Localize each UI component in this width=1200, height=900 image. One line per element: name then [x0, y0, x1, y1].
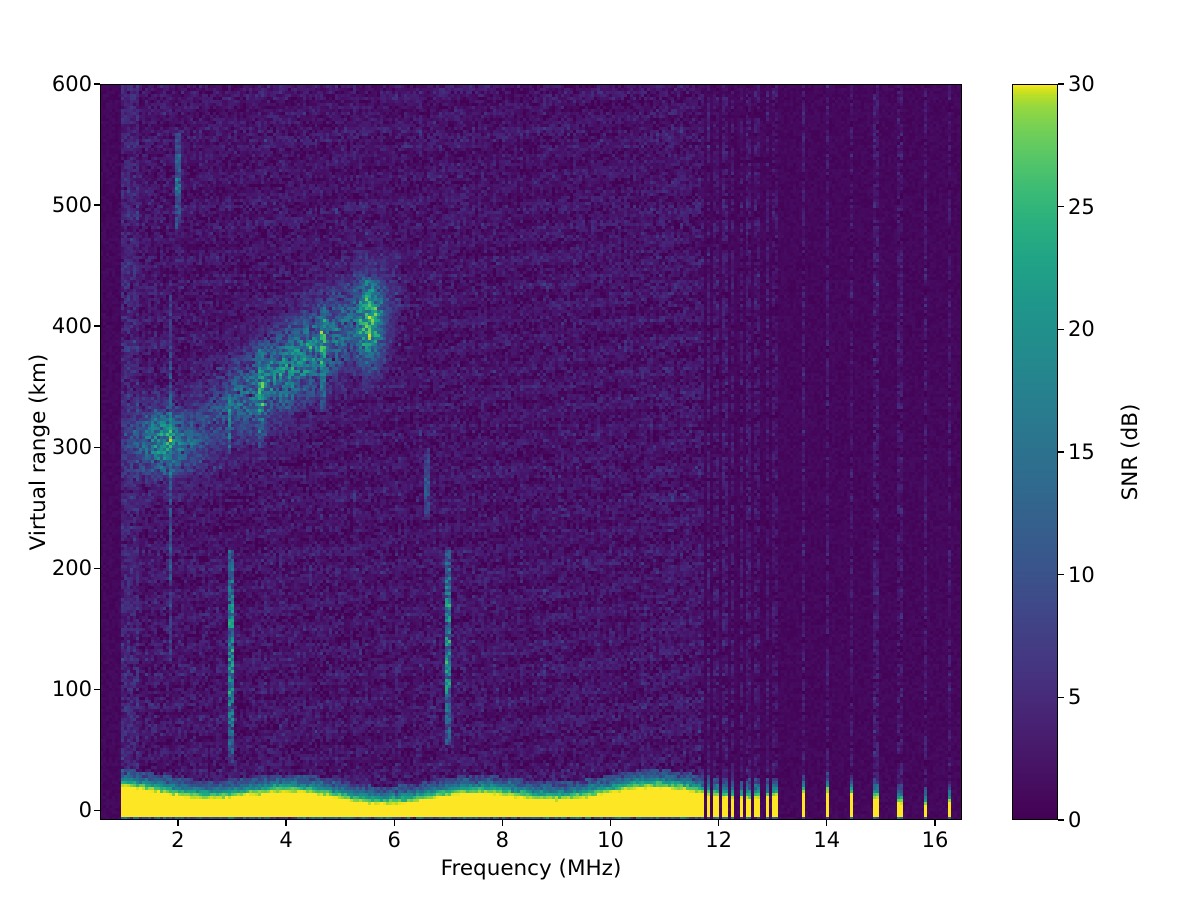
colorbar-tick-mark	[1058, 819, 1064, 820]
y-tick-mark	[94, 325, 100, 326]
y-tick-mark	[94, 83, 100, 84]
colorbar-tick-mark	[1058, 83, 1064, 84]
colorbar-tick-label: 5	[1068, 687, 1081, 708]
ionogram-plot-area[interactable]	[100, 84, 962, 820]
x-axis-label: Frequency (MHz)	[100, 856, 962, 881]
x-tick-label: 12	[679, 829, 759, 851]
y-tick-label: 400	[52, 316, 92, 337]
x-tick-mark	[934, 820, 935, 826]
x-tick-mark	[177, 820, 178, 826]
ionogram-heatmap-canvas	[101, 85, 962, 820]
colorbar-tick-label: 30	[1068, 74, 1095, 95]
ionogram-figure: IRF Uppsala SDR Ionosonde UP158 2026-02-…	[0, 0, 1200, 900]
y-tick-mark	[94, 204, 100, 205]
y-tick-label: 100	[52, 679, 92, 700]
y-tick-label: 200	[52, 558, 92, 579]
colorbar-tick-mark	[1058, 697, 1064, 698]
colorbar-tick-mark	[1058, 451, 1064, 452]
colorbar-tick-mark	[1058, 329, 1064, 330]
y-tick-mark	[94, 810, 100, 811]
colorbar-tick-label: 0	[1068, 810, 1081, 831]
y-axis-label: Virtual range (km)	[26, 84, 51, 820]
colorbar-tick-label: 25	[1068, 197, 1095, 218]
x-tick-label: 14	[787, 829, 867, 851]
y-tick-mark	[94, 447, 100, 448]
x-tick-mark	[718, 820, 719, 826]
y-tick-label: 0	[79, 800, 92, 821]
y-tick-label: 600	[52, 74, 92, 95]
colorbar-tick-label: 15	[1068, 442, 1095, 463]
x-tick-mark	[610, 820, 611, 826]
x-tick-mark	[502, 820, 503, 826]
colorbar-tick-label: 10	[1068, 565, 1095, 586]
x-tick-mark	[826, 820, 827, 826]
y-tick-label: 300	[52, 437, 92, 458]
x-tick-label: 4	[246, 829, 326, 851]
x-tick-label: 8	[462, 829, 542, 851]
y-tick-label: 500	[52, 195, 92, 216]
x-tick-label: 16	[895, 829, 975, 851]
x-tick-label: 2	[138, 829, 218, 851]
y-tick-mark	[94, 568, 100, 569]
snr-colorbar[interactable]	[1012, 84, 1058, 820]
colorbar-tick-label: 20	[1068, 319, 1095, 340]
colorbar-label: SNR (dB)	[1118, 84, 1143, 820]
x-tick-mark	[285, 820, 286, 826]
colorbar-tick-mark	[1058, 206, 1064, 207]
x-tick-mark	[394, 820, 395, 826]
y-tick-mark	[94, 689, 100, 690]
x-tick-label: 10	[570, 829, 650, 851]
x-tick-label: 6	[354, 829, 434, 851]
colorbar-tick-mark	[1058, 574, 1064, 575]
